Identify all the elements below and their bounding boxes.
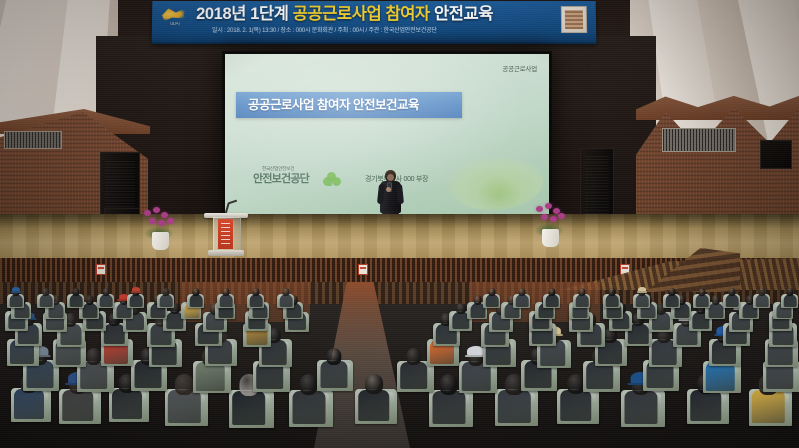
audience-person-head	[579, 288, 586, 296]
audience-person	[320, 346, 347, 389]
audience-person-head	[43, 288, 50, 296]
audience-person-head	[549, 288, 556, 296]
audience-person-body	[130, 294, 143, 307]
audience-person-head	[103, 288, 110, 296]
audience-person-head	[85, 295, 94, 305]
audience-person-body	[606, 294, 619, 307]
audience-person-body	[756, 294, 769, 307]
audience-person-head	[406, 348, 422, 365]
audience-person-head	[283, 288, 290, 296]
audience-person-body	[62, 390, 94, 422]
audience-person-head	[253, 288, 260, 296]
audience-person-body	[666, 294, 679, 307]
slide-leaf-graphic-2	[477, 178, 521, 212]
lectern	[204, 203, 248, 259]
audience-person-body	[196, 362, 225, 391]
flower-vase-left	[152, 232, 169, 250]
audience-person	[696, 287, 709, 307]
audience-person-body	[14, 389, 44, 419]
audience-person	[70, 287, 83, 307]
stage-front-sign-1	[96, 264, 106, 275]
audience-person-head	[711, 295, 720, 305]
event-banner: 00시 2018년 1단계 공공근로사업 참여자 안전교육 일시 : 2018.…	[152, 1, 597, 44]
flower-vase-right	[542, 229, 559, 247]
bird-emblem-logo: 00시	[160, 6, 190, 35]
audience-person-body	[10, 294, 23, 307]
podium-base	[208, 250, 244, 256]
audience-person	[82, 294, 97, 318]
audience-person	[40, 287, 53, 307]
audience-person	[250, 287, 263, 307]
audience-person-body	[576, 294, 589, 307]
audience-person-head	[365, 374, 383, 394]
audience-person	[280, 287, 293, 307]
stage-floor	[0, 214, 799, 262]
audience-person-body	[320, 361, 347, 388]
audience-person-body	[400, 362, 428, 390]
audience-person-body	[486, 294, 499, 307]
audience-person	[726, 287, 739, 307]
audience-person-body	[160, 294, 173, 307]
presenter-face	[387, 174, 394, 181]
audience-person-body	[636, 294, 649, 307]
audience-person-body	[546, 294, 559, 307]
audience-person-body	[100, 294, 113, 307]
audience-person	[190, 287, 203, 307]
audience-person-head	[669, 288, 676, 296]
audience-person-body	[516, 294, 529, 307]
audience-person-body	[292, 391, 325, 424]
audience-person-head	[223, 288, 230, 296]
audience-person-head	[456, 303, 466, 314]
audience-person-body	[280, 294, 293, 307]
slide-header-note: 공공근로사업	[502, 63, 537, 73]
banner-title: 2018년 1단계 공공근로사업 참여자 안전교육	[196, 3, 536, 25]
audience-person-head	[699, 288, 706, 296]
stage-front-sign-2	[358, 264, 368, 275]
audience-person	[100, 287, 113, 307]
audience-person	[220, 287, 233, 307]
audience-person	[606, 287, 619, 307]
audience-person-head	[567, 374, 585, 394]
audience-person-body	[432, 391, 465, 424]
banner-logo-caption: 00시	[161, 22, 189, 32]
audience-person-body	[560, 390, 592, 422]
audience-person-head	[473, 295, 482, 305]
certification-badge	[561, 6, 587, 33]
slide-organization: 한국산업안전보건 안전보건공단	[253, 166, 349, 192]
vent-grille-right	[662, 128, 736, 152]
audience-person-body	[726, 294, 739, 307]
banner-subtitle: 일시 : 2018. 2. 1(목) 13:30 / 장소 : 000시 문화회…	[212, 26, 542, 37]
slide-org-name: 안전보건공단	[253, 172, 309, 186]
audience-person-body	[220, 294, 233, 307]
audience-person	[666, 287, 679, 307]
presenter-arm-right	[396, 184, 404, 205]
audience-person-body	[250, 294, 263, 307]
audience-person-body	[706, 362, 735, 391]
audience-person	[516, 287, 529, 307]
audience-person-body	[40, 294, 53, 307]
podium-banner	[218, 219, 233, 249]
auditorium-photo: 00시 2018년 1단계 공공근로사업 참여자 안전교육 일시 : 2018.…	[0, 0, 799, 448]
audience-person-body	[190, 294, 203, 307]
slide-title-bar: 공공근로사업 참여자 안전보건교육	[236, 92, 462, 118]
audience-person-head	[519, 288, 526, 296]
audience-person	[130, 287, 143, 307]
audience-person	[784, 287, 797, 307]
audience-person	[358, 372, 390, 422]
audience-person	[486, 287, 499, 307]
audience-person	[10, 287, 23, 307]
presenter-hand	[386, 187, 391, 192]
audience-person-body	[82, 303, 97, 318]
wall-speaker-right	[760, 140, 792, 169]
audience-person-head	[163, 288, 170, 296]
audience-person-head	[193, 288, 200, 296]
audience-person-head	[439, 374, 458, 395]
audience-person-head	[86, 348, 102, 365]
audience-person-head	[299, 374, 318, 395]
audience-person	[636, 287, 649, 307]
audience-person-head	[609, 288, 616, 296]
vent-grille-left	[4, 131, 62, 149]
audience-person-hat	[132, 287, 140, 292]
clover-logo	[323, 172, 341, 190]
audience-person-body	[70, 294, 83, 307]
audience-person-head	[326, 348, 341, 365]
bird-icon	[162, 7, 187, 21]
audience-person-body	[690, 390, 722, 422]
slide-title: 공공근로사업 참여자 안전보건교육	[248, 96, 419, 114]
audience-person-body	[696, 294, 709, 307]
audience-person-head	[759, 288, 766, 296]
audience-person-head	[729, 288, 736, 296]
audience-person-body	[104, 324, 124, 344]
banner-title-part: 공공근로사업 참여자	[293, 5, 434, 23]
audience-person-head	[73, 288, 80, 296]
audience-person-body	[112, 389, 142, 419]
slide-leaf-graphic	[447, 158, 543, 210]
banner-title-part: 안전교육	[434, 5, 493, 23]
audience-person-body	[168, 390, 200, 422]
audience-person-hat	[12, 287, 20, 292]
audience-person-body	[708, 303, 723, 318]
banner-title-part: 2018년 1단계	[196, 5, 293, 23]
audience-person-body	[624, 391, 657, 424]
audience-person-head	[175, 374, 193, 395]
audience-person	[756, 287, 769, 307]
audience-person-body	[752, 390, 784, 422]
slide-org-small-text: 한국산업안전보건	[262, 166, 294, 172]
audience-person	[708, 294, 723, 318]
audience-person-body	[784, 294, 797, 307]
audience-person-body	[232, 391, 266, 425]
audience-person-body	[498, 390, 530, 422]
audience-person	[160, 287, 173, 307]
audience-person	[400, 346, 428, 390]
audience-person-head	[787, 288, 794, 296]
audience-person-hat	[638, 287, 646, 292]
audience-person-body	[358, 390, 390, 422]
audience-person-head	[489, 288, 496, 296]
audience-person	[576, 287, 589, 307]
audience-person	[546, 287, 559, 307]
